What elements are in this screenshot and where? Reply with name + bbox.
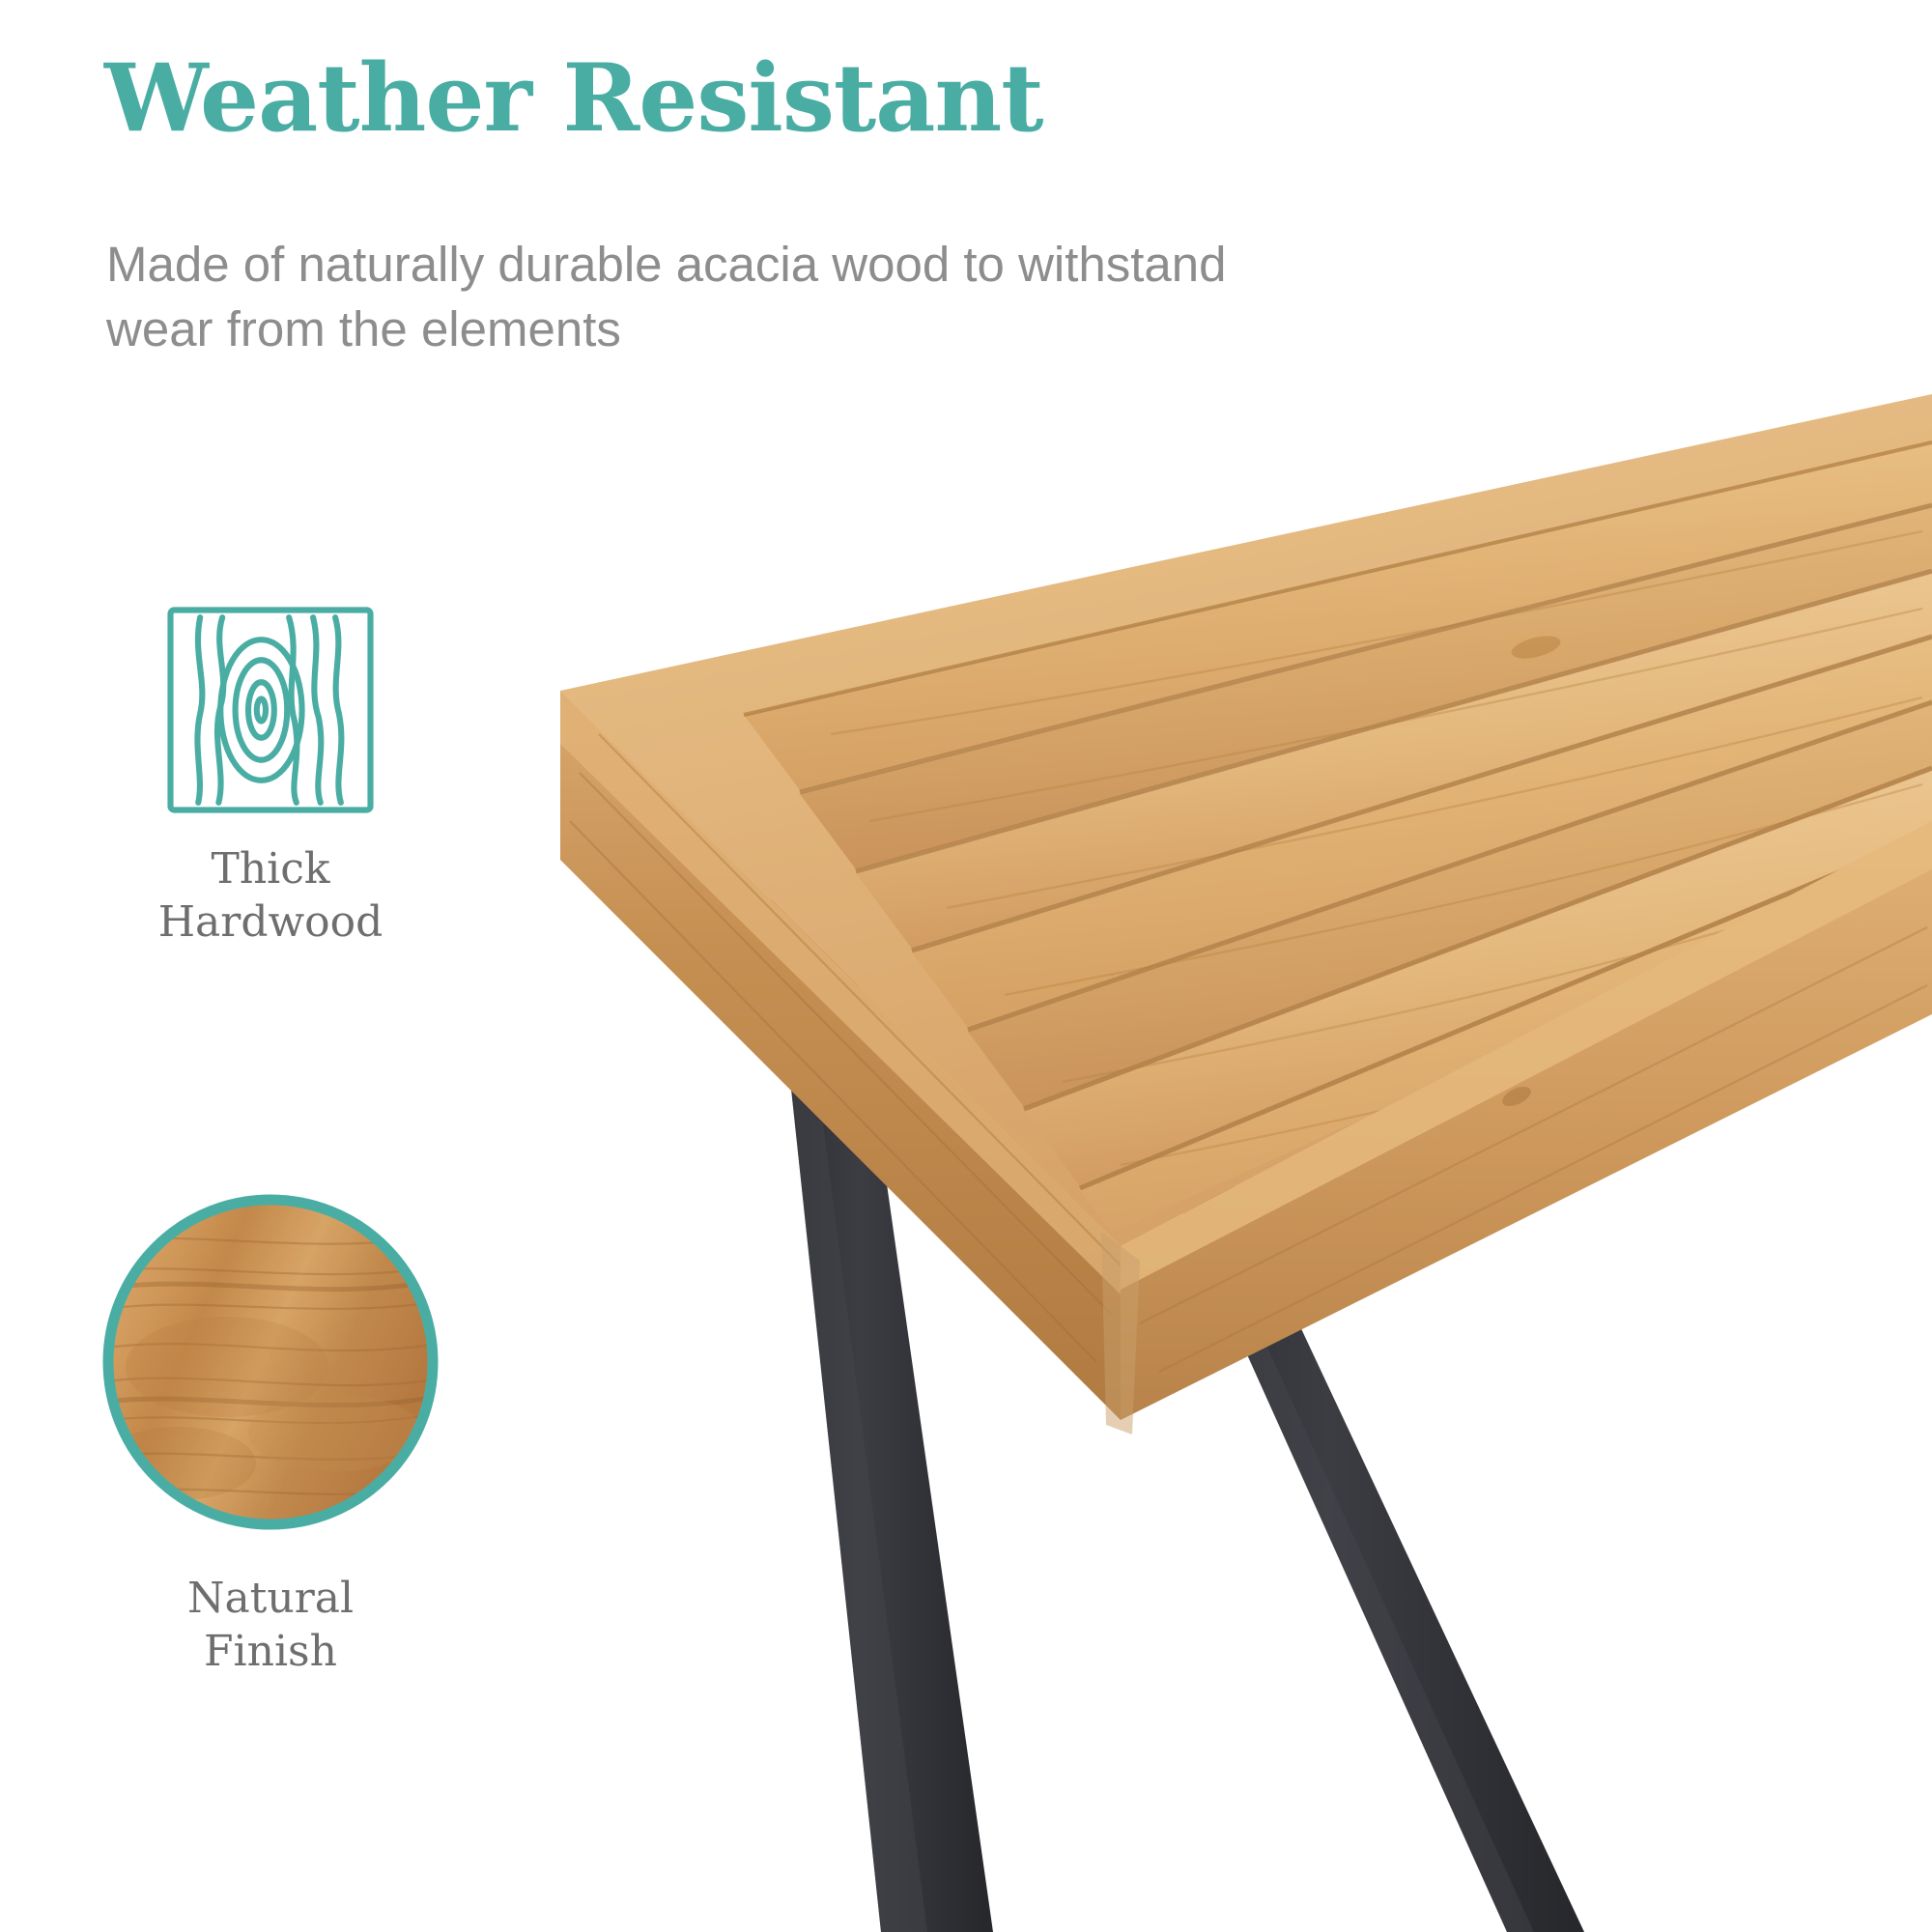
page-title: Weather Resistant [104, 50, 1043, 148]
product-feature-graphic: Weather Resistant Made of naturally dura… [0, 0, 1932, 1932]
feature-label: Natural Finish [68, 1572, 473, 1678]
feature-natural-finish: Natural Finish [68, 1174, 473, 1678]
feature-thick-hardwood: Thick Hardwood [68, 599, 473, 949]
wood-grain-square-icon [68, 599, 473, 821]
wood-swatch-circle-icon [68, 1174, 473, 1550]
acacia-wood-table-corner-photo [541, 319, 1932, 1932]
feature-label: Thick Hardwood [68, 842, 473, 949]
table-top-surface [560, 394, 1932, 1265]
